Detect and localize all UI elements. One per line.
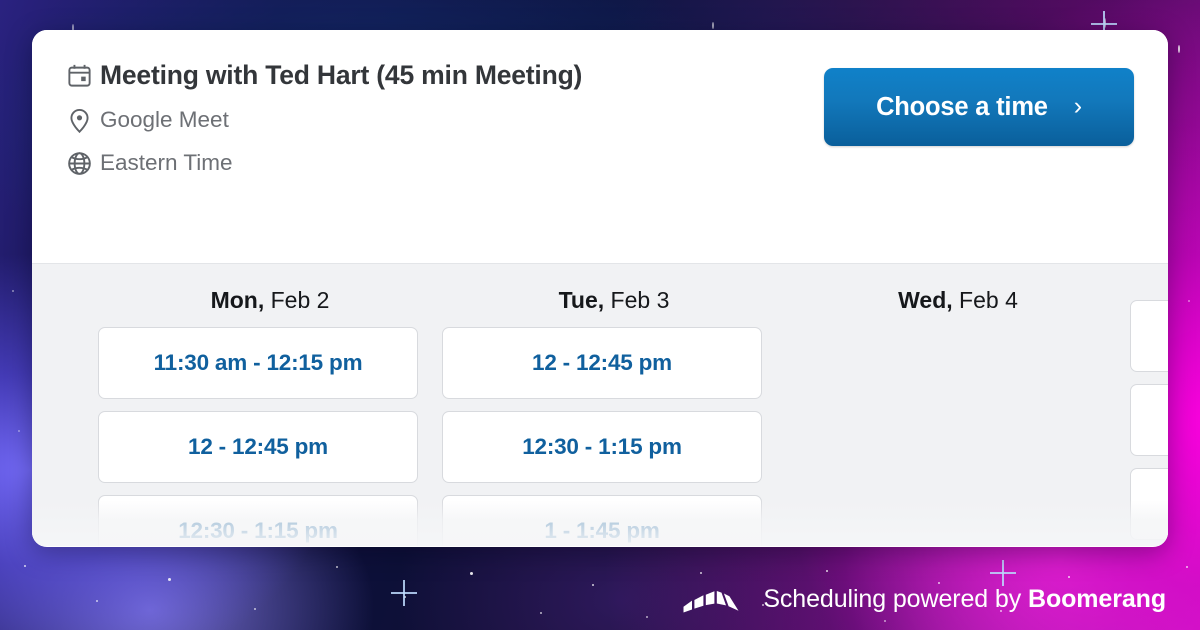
chevron-right-icon: ›	[1074, 94, 1082, 119]
day-column: Tue, Feb 3 12 - 12:45 pm 12:30 - 1:15 pm…	[442, 264, 786, 546]
day-column-header	[1130, 264, 1168, 300]
day-name: Tue,	[559, 287, 605, 313]
day-column: Wed, Feb 4	[786, 264, 1130, 546]
time-slot-button[interactable]: 1 - 1:45 pm	[442, 495, 762, 546]
calendar-icon	[66, 62, 100, 89]
page-background: Meeting with Ted Hart (45 min Meeting) G…	[0, 0, 1200, 630]
day-column-header: Wed, Feb 4	[786, 264, 1130, 327]
time-slot-button[interactable]: 11:	[1130, 384, 1168, 456]
globe-icon	[66, 150, 100, 177]
day-columns: Mon, Feb 2 11:30 am - 12:15 pm 12 - 12:4…	[32, 264, 1168, 546]
brand-name: Boomerang	[1028, 585, 1166, 613]
day-date: Feb 4	[953, 287, 1018, 313]
day-column-header: Mon, Feb 2	[98, 264, 442, 327]
day-name: Wed,	[898, 287, 953, 313]
time-slot-button[interactable]: 12 - 12:45 pm	[442, 327, 762, 399]
day-column-header: Tue, Feb 3	[442, 264, 786, 327]
timezone-label: Eastern Time	[100, 148, 233, 178]
footer-text: Scheduling powered by Boomerang	[763, 585, 1166, 614]
day-name: Mon,	[211, 287, 265, 313]
timezone-row: Eastern Time	[66, 148, 1134, 178]
boomerang-logo-icon	[681, 582, 747, 616]
card-header: Meeting with Ted Hart (45 min Meeting) G…	[32, 30, 1168, 264]
day-column: 11:	[1130, 264, 1168, 546]
choose-a-time-button[interactable]: Choose a time ›	[824, 68, 1134, 146]
scheduling-card: Meeting with Ted Hart (45 min Meeting) G…	[32, 30, 1168, 547]
location-pin-icon	[66, 107, 100, 134]
time-slot-button[interactable]: 12:30 - 1:15 pm	[442, 411, 762, 483]
time-slots-area: Mon, Feb 2 11:30 am - 12:15 pm 12 - 12:4…	[32, 264, 1168, 546]
day-date: Feb 3	[604, 287, 669, 313]
day-column: Mon, Feb 2 11:30 am - 12:15 pm 12 - 12:4…	[98, 264, 442, 546]
time-slot-button[interactable]: 12:30 - 1:15 pm	[98, 495, 418, 546]
footer-attribution: Scheduling powered by Boomerang	[681, 582, 1166, 616]
choose-a-time-label: Choose a time	[876, 93, 1048, 122]
location-label: Google Meet	[100, 105, 229, 135]
time-slot-button[interactable]	[1130, 300, 1168, 372]
time-slot-button[interactable]	[1130, 468, 1168, 540]
time-slot-button[interactable]: 11:30 am - 12:15 pm	[98, 327, 418, 399]
time-slot-button[interactable]: 12 - 12:45 pm	[98, 411, 418, 483]
page-title: Meeting with Ted Hart (45 min Meeting)	[100, 58, 582, 92]
day-date: Feb 2	[264, 287, 329, 313]
footer-text-prefix: Scheduling powered by	[763, 585, 1028, 613]
